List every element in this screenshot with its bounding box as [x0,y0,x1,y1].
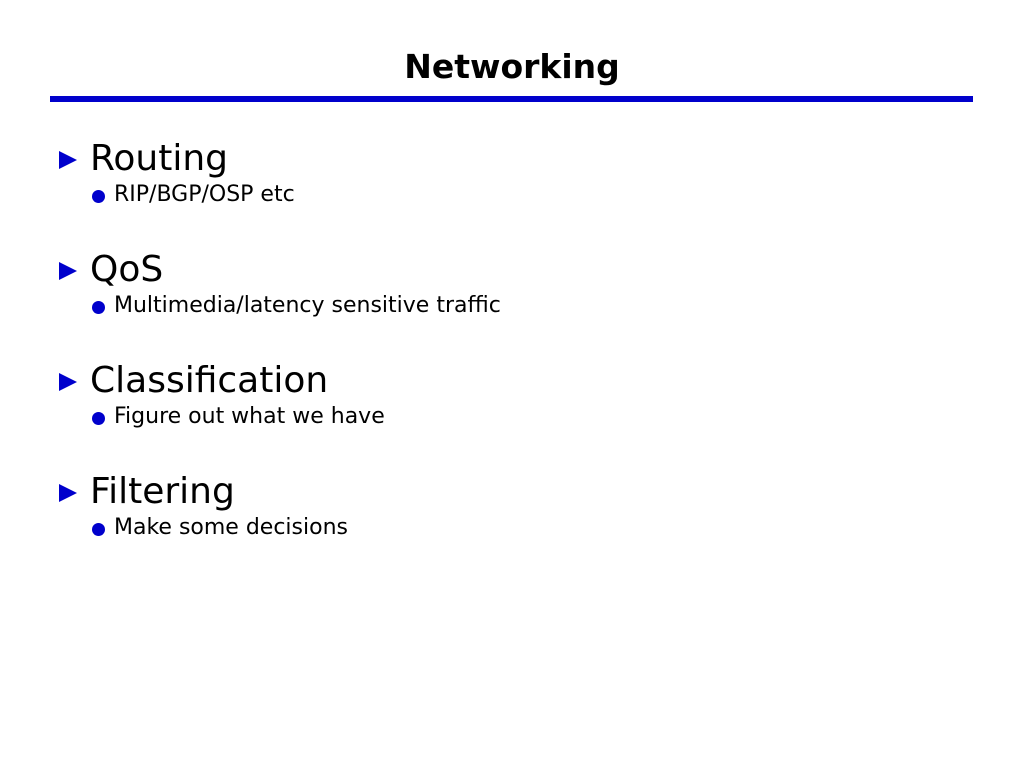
bullet-item-level2: Multimedia/latency sensitive traffic [0,291,1024,321]
bullet-group: QoS Multimedia/latency sensitive traffic [0,247,1024,321]
presentation-slide: Networking Routing RIP/BGP/OSP etc [0,0,1024,768]
bullet-group: Filtering Make some decisions [0,469,1024,543]
bullet-item-level1: Classification [0,358,1024,404]
bullet-label-level2: Multimedia/latency sensitive traffic [114,291,501,321]
triangle-right-icon [57,149,79,171]
title-divider-rule [50,96,973,102]
bullet-label-level2: Make some decisions [114,513,348,543]
bullet-label-level1: Classification [90,358,328,404]
bullet-item-level2: RIP/BGP/OSP etc [0,180,1024,210]
triangle-right-icon [57,371,79,393]
bullet-item-level2: Make some decisions [0,513,1024,543]
bullet-group: Routing RIP/BGP/OSP etc [0,136,1024,210]
triangle-right-icon [57,482,79,504]
disc-icon [92,523,105,536]
bullet-item-level1: Filtering [0,469,1024,515]
disc-icon [92,301,105,314]
slide-title-block: Networking [0,46,1024,88]
slide-body: Routing RIP/BGP/OSP etc QoS Multimedia/l… [0,136,1024,543]
disc-icon [92,190,105,203]
bullet-label-level1: Filtering [90,469,235,515]
page-title: Networking [0,46,1024,88]
bullet-label-level2: Figure out what we have [114,402,385,432]
disc-icon [92,412,105,425]
bullet-label-level2: RIP/BGP/OSP etc [114,180,295,210]
bullet-label-level1: QoS [90,247,163,293]
bullet-label-level1: Routing [90,136,228,182]
bullet-item-level2: Figure out what we have [0,402,1024,432]
bullet-group: Classification Figure out what we have [0,358,1024,432]
bullet-item-level1: Routing [0,136,1024,182]
triangle-right-icon [57,260,79,282]
bullet-item-level1: QoS [0,247,1024,293]
